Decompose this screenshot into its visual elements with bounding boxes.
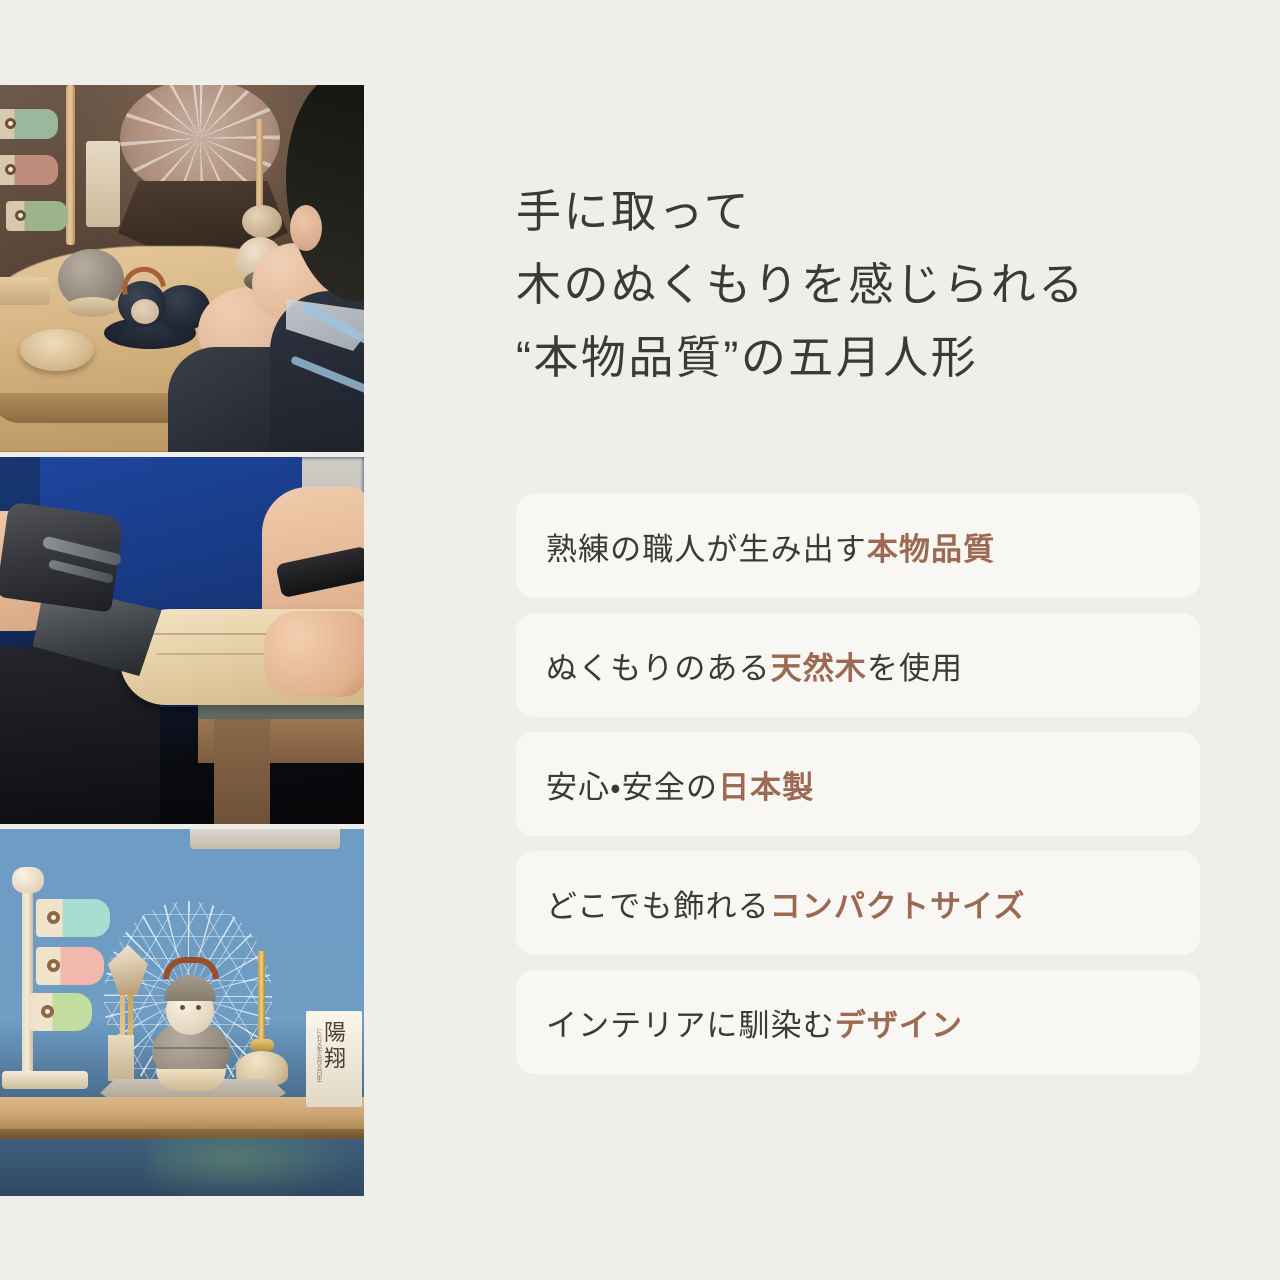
feature-text: ぬくもりのある天然木を使用: [546, 643, 963, 688]
feature-text: 安心・安全の日本製: [546, 762, 814, 807]
doll-eye-left: [180, 1005, 185, 1010]
feature-text: 熟練の職人が生み出す本物品質: [546, 524, 995, 569]
workbench-leg-shape: [214, 715, 270, 824]
wall-frame-shape: [190, 829, 340, 849]
doll-eye-right: [196, 1005, 201, 1010]
headline-line-1: 手に取って: [516, 176, 1216, 249]
koinobori-flag-green: [0, 109, 58, 139]
feature-text: どこでも飾れるコンパクトサイズ: [546, 881, 1025, 926]
feature-accent: デザイン: [835, 1008, 963, 1043]
gold-stick-shape: [256, 119, 263, 215]
feature-text: インテリアに馴染むデザイン: [546, 1000, 963, 1045]
content-panel: 手に取って 木のぬくもりを感じられる “本物品質”の五月人形 熟練の職人が生み出…: [516, 0, 1216, 1280]
koinobori-pole-cap: [12, 867, 44, 893]
koinobori-green: [30, 993, 92, 1031]
feature-prefix: 安心・安全の: [546, 770, 718, 805]
feature-card-interior-design[interactable]: インテリアに馴染むデザイン: [516, 970, 1200, 1074]
doll-base-shape: [156, 1069, 226, 1091]
doll-body-seam: [154, 1047, 228, 1049]
photo-wooden-may-doll-display[interactable]: にれ又年五月五日生 陽翔: [0, 829, 364, 1196]
feature-accent: 本物品質: [867, 532, 995, 567]
stick-base-ball-shape: [242, 205, 282, 238]
feature-accent: 天然木: [771, 651, 867, 686]
koinobori-mint: [36, 899, 110, 937]
page-headline: 手に取って 木のぬくもりを感じられる “本物品質”の五月人形: [516, 176, 1216, 395]
grey-doll-base-shape: [66, 297, 118, 317]
photo-child-holding-wooden-doll[interactable]: [0, 85, 364, 452]
name-plaque-text: 陽翔: [320, 1021, 350, 1097]
gold-sword-guard: [250, 1039, 274, 1051]
feature-accent: コンパクトサイズ: [770, 889, 1026, 924]
wooden-lid-shape: [20, 329, 94, 371]
koinobori-flag-lightgreen: [6, 201, 68, 231]
feature-accent: 日本製: [718, 770, 814, 805]
photo-craftsman-sanding-wood[interactable]: [0, 457, 364, 824]
headline-line-3: “本物品質”の五月人形: [516, 322, 1216, 395]
gold-sword-shape: [258, 951, 265, 1051]
feature-card-authentic-quality[interactable]: 熟練の職人が生み出す本物品質: [516, 494, 1200, 598]
feature-suffix: を使用: [867, 651, 963, 686]
koinobori-stand-base: [2, 1071, 88, 1089]
feature-card-compact-size[interactable]: どこでも飾れるコンパクトサイズ: [516, 851, 1200, 955]
craftsman-right-hand: [264, 611, 364, 697]
koinobori-flag-pink: [0, 155, 58, 185]
feature-prefix: ぬくもりのある: [546, 651, 771, 686]
navy-doll-face-shape: [131, 299, 159, 324]
feature-card-made-in-japan[interactable]: 安心・安全の日本製: [516, 732, 1200, 836]
arrow-stand-shape: [108, 1035, 134, 1081]
feature-prefix: どこでも飾れる: [546, 889, 770, 924]
photo-gallery: にれ又年五月五日生 陽翔: [0, 85, 364, 1196]
child-ear-shape: [290, 205, 322, 251]
name-plaque-shape: [86, 141, 120, 227]
feature-list: 熟練の職人が生み出す本物品質 ぬくもりのある天然木を使用 安心・安全の日本製 ど…: [516, 494, 1200, 1074]
feature-prefix: インテリアに馴染む: [546, 1008, 835, 1043]
koinobori-pink: [36, 947, 104, 985]
feature-card-natural-wood[interactable]: ぬくもりのある天然木を使用: [516, 613, 1200, 717]
koinobori-stand-pole: [22, 881, 33, 1077]
foreground-foliage-blur: [150, 1133, 360, 1196]
wood-board-shape: [0, 277, 50, 305]
feature-prefix: 熟練の職人が生み出す: [546, 532, 867, 567]
headline-line-2: 木のぬくもりを感じられる: [516, 249, 1216, 322]
